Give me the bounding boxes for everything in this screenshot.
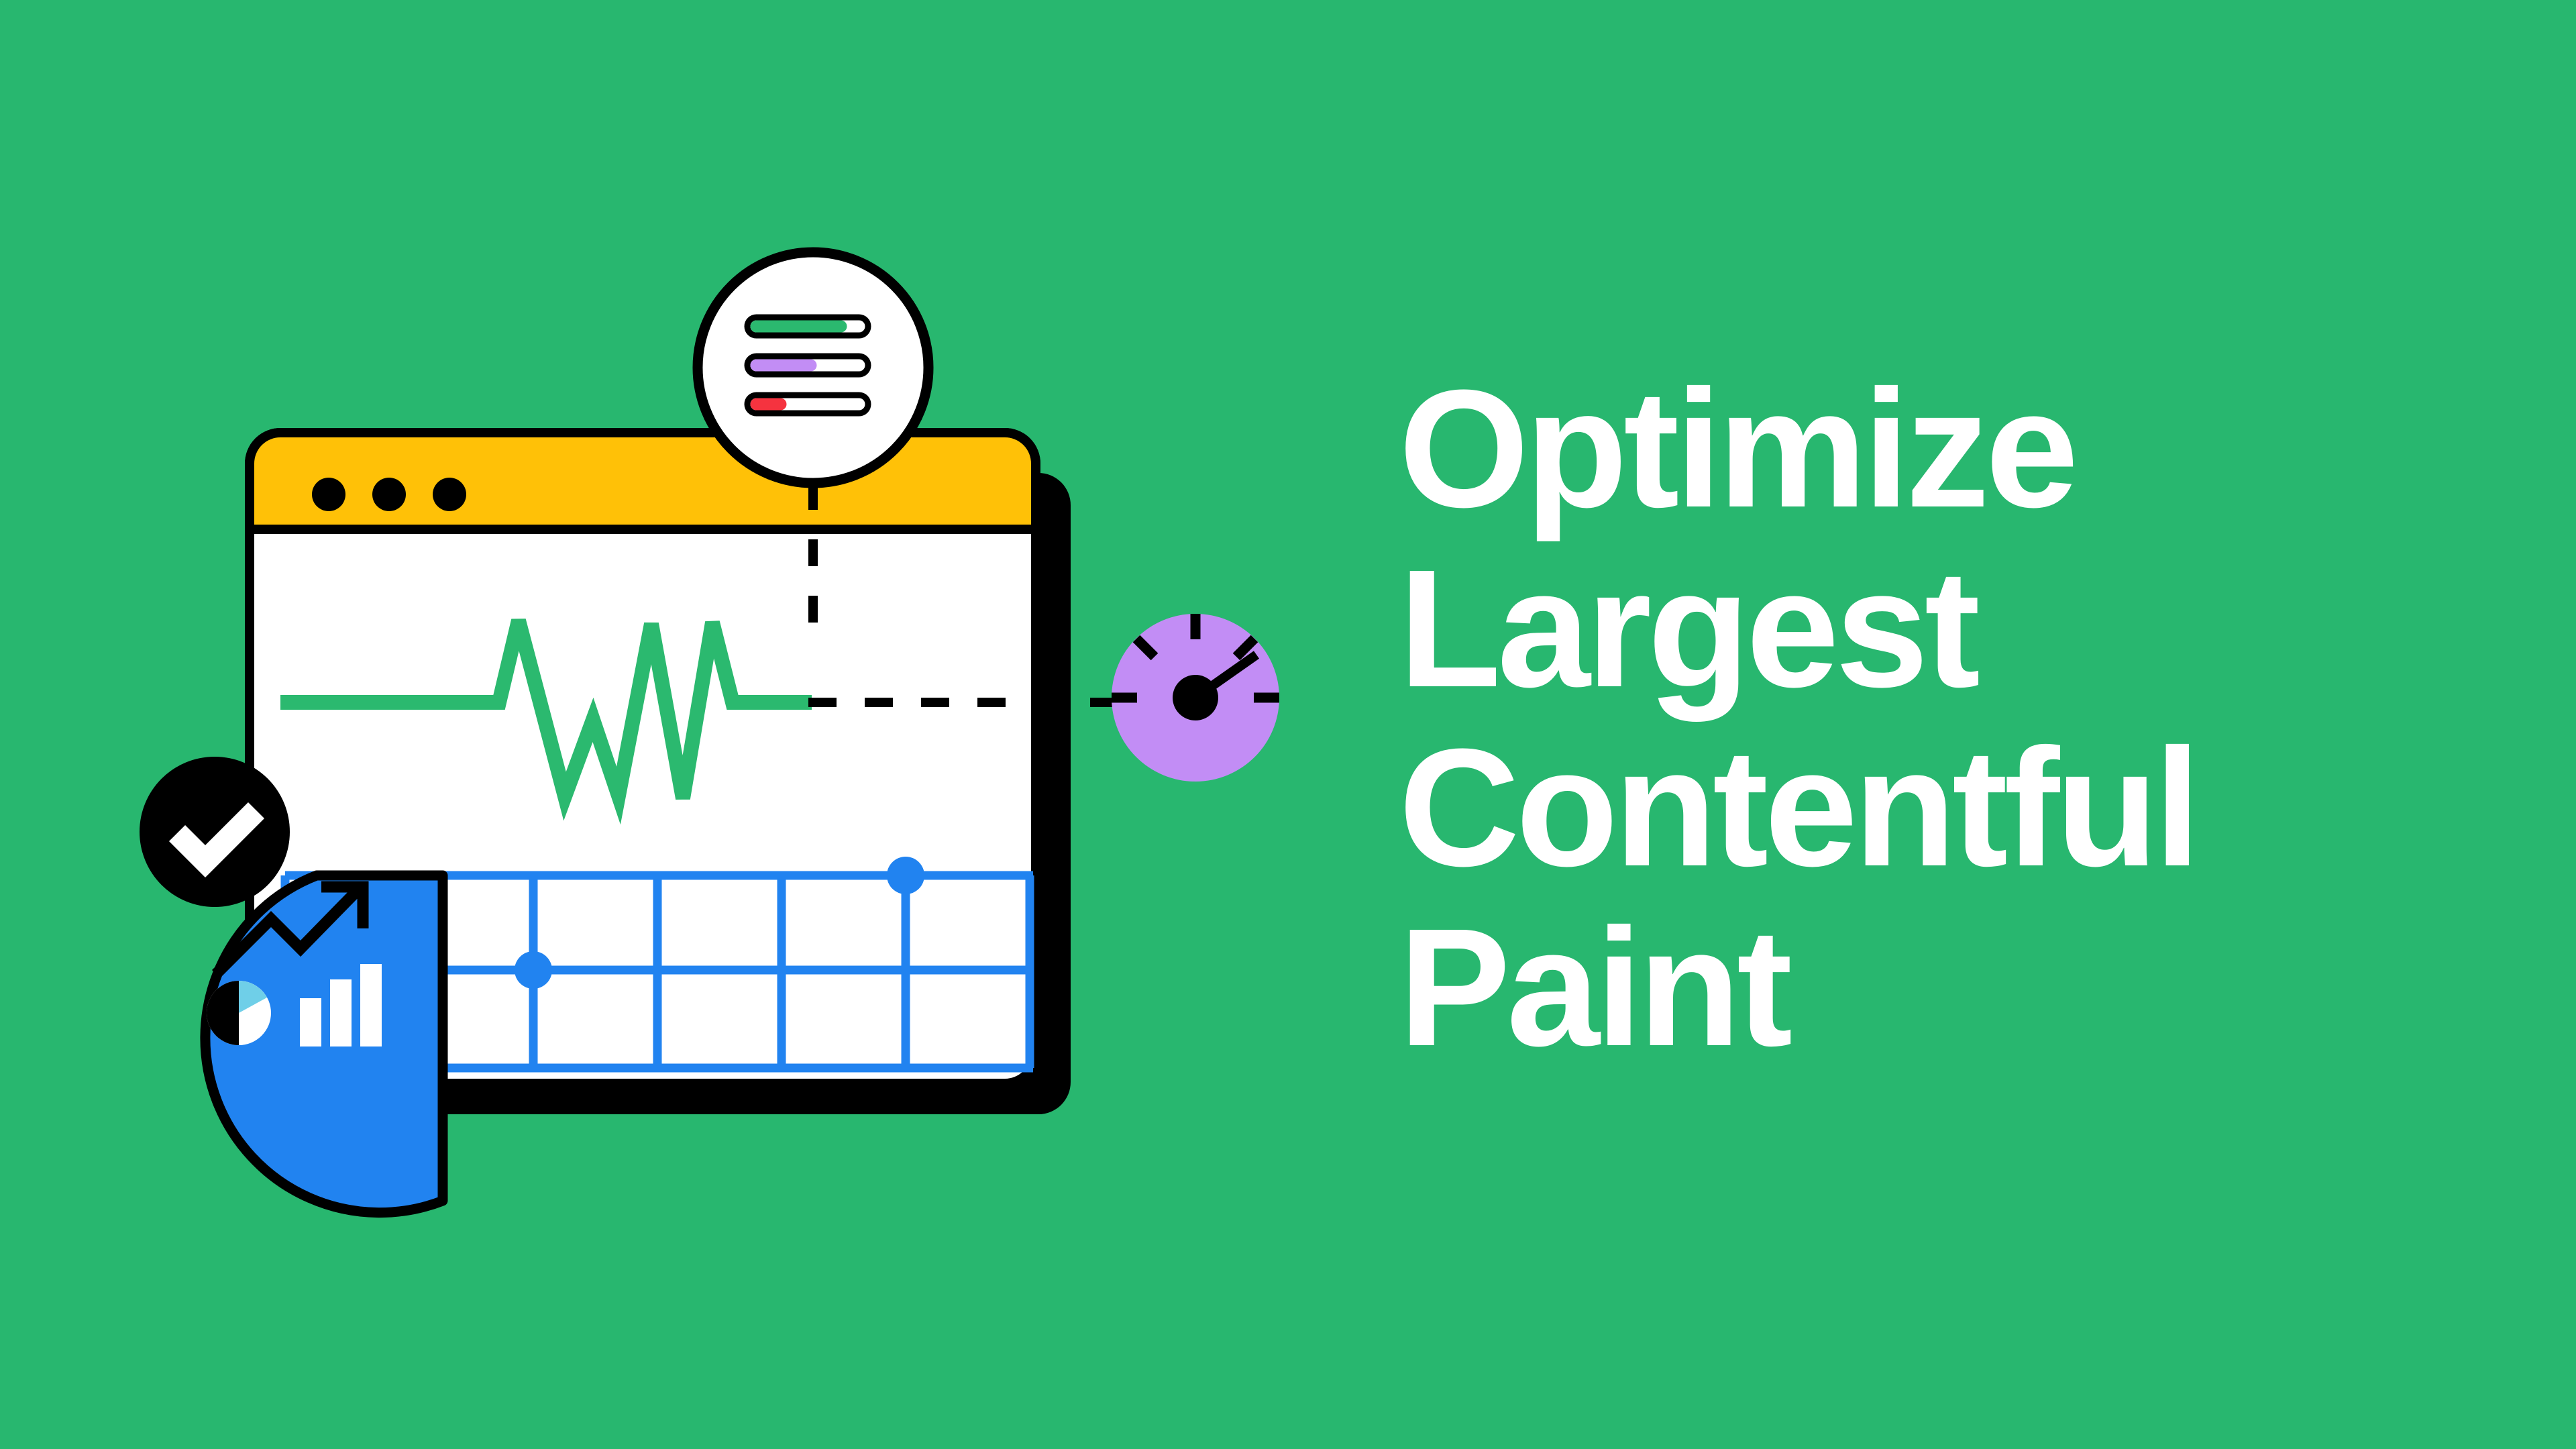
window-dot-close[interactable] — [312, 478, 345, 511]
analytics-bar-3 — [360, 964, 382, 1046]
metrics-badge[interactable] — [698, 252, 928, 483]
headline-line-1: Optimize — [1399, 359, 2405, 539]
grid-data-point-a[interactable] — [515, 951, 552, 989]
headline-line-4: Paint — [1399, 898, 2405, 1077]
progress-bar-red — [747, 395, 868, 413]
check-circle-icon[interactable] — [140, 757, 290, 907]
page-title: Optimize Largest Contentful Paint — [1399, 359, 2405, 1077]
headline-line-2: Largest — [1399, 539, 2405, 718]
progress-bar-purple — [747, 356, 868, 374]
analytics-bar-2 — [330, 979, 352, 1046]
speed-gauge-icon[interactable] — [1112, 614, 1279, 782]
headline-line-3: Contentful — [1399, 718, 2405, 898]
illustration-canvas: Optimize Largest Contentful Paint — [0, 0, 2576, 1449]
analytics-bar-1 — [300, 998, 321, 1046]
window-dot-minimize[interactable] — [372, 478, 406, 511]
pie-chart-icon — [207, 981, 271, 1045]
progress-bar-green — [747, 317, 868, 335]
check-badge-circle — [140, 757, 290, 907]
window-dot-maximize[interactable] — [433, 478, 466, 511]
gauge-hub — [1173, 675, 1218, 720]
browser-title-bar — [250, 433, 1036, 529]
grid-data-point-b[interactable] — [887, 857, 924, 894]
